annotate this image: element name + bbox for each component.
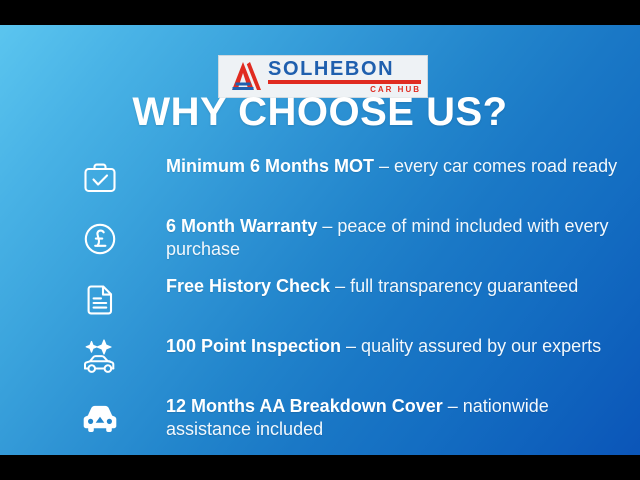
document-icon <box>76 277 124 321</box>
list-item-lead: 100 Point Inspection <box>166 336 341 356</box>
pound-circle-icon <box>76 217 124 261</box>
list-item-text: 6 Month Warranty – peace of mind include… <box>166 211 626 261</box>
list-item-lead: 12 Months AA Breakdown Cover <box>166 396 443 416</box>
list-item-text: Free History Check – full transparency g… <box>166 271 578 298</box>
sparkle-car-icon <box>76 337 124 381</box>
toolbox-check-icon <box>76 157 124 201</box>
list-item: Minimum 6 Months MOT – every car comes r… <box>0 151 640 211</box>
list-item-lead: Minimum 6 Months MOT <box>166 156 374 176</box>
list-item: 100 Point Inspection – quality assured b… <box>0 331 640 391</box>
list-item-text: Minimum 6 Months MOT – every car comes r… <box>166 151 617 178</box>
page-title: WHY CHOOSE US? <box>0 89 640 135</box>
list-item: Free History Check – full transparency g… <box>0 271 640 331</box>
logo-red-rule <box>268 80 421 84</box>
list-item-lead: 6 Month Warranty <box>166 216 317 236</box>
letterbox-bar-top <box>0 0 640 25</box>
list-item: 12 Months AA Breakdown Cover – nationwid… <box>0 391 640 451</box>
list-item-tail: – every car comes road ready <box>374 156 617 176</box>
list-item-tail: – quality assured by our experts <box>341 336 601 356</box>
list-item: 6 Month Warranty – peace of mind include… <box>0 211 640 271</box>
promo-slide: SOLHEBON CAR HUB WHY CHOOSE US? Minim <box>0 25 640 455</box>
list-item-tail: – full transparency guaranteed <box>330 276 578 296</box>
list-item-text: 100 Point Inspection – quality assured b… <box>166 331 601 358</box>
logo-name: SOLHEBON <box>268 59 421 79</box>
car-front-icon <box>76 397 124 441</box>
list-item-lead: Free History Check <box>166 276 330 296</box>
video-slide-screen: SOLHEBON CAR HUB WHY CHOOSE US? Minim <box>0 0 640 480</box>
letterbox-bar-bottom <box>0 455 640 480</box>
list-item-text: 12 Months AA Breakdown Cover – nationwid… <box>166 391 626 441</box>
feature-list: Minimum 6 Months MOT – every car comes r… <box>0 151 640 451</box>
